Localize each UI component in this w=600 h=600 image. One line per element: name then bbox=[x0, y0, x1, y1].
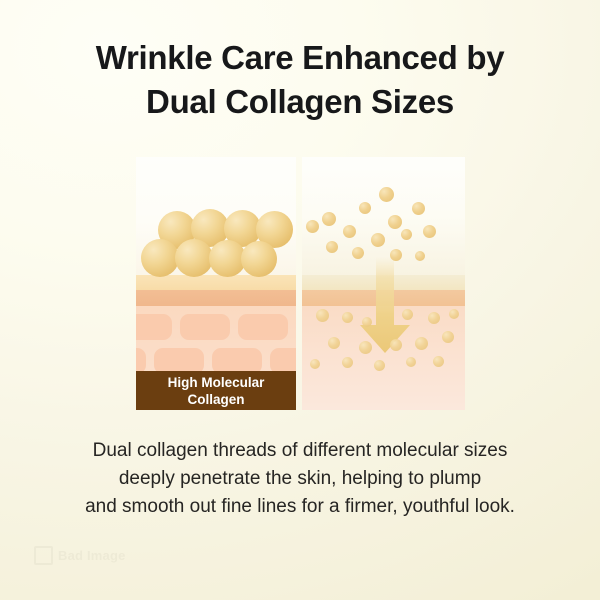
collagen-molecule-small-deep bbox=[428, 312, 440, 324]
collagen-molecule-small bbox=[412, 202, 425, 215]
collagen-comparison-diagram: High Molecular Collagen bbox=[136, 157, 465, 410]
collagen-molecule-small-deep bbox=[374, 360, 385, 371]
collagen-molecule-large bbox=[175, 239, 213, 277]
label-high-molecular: High Molecular Collagen bbox=[136, 371, 296, 410]
left-upper-dermis-layer bbox=[136, 290, 296, 306]
collagen-molecule-small bbox=[388, 215, 402, 229]
collagen-molecule-small-deep bbox=[415, 337, 428, 350]
watermark-logo-icon bbox=[34, 546, 53, 565]
collagen-molecule-small-deep bbox=[342, 357, 353, 368]
title-line-2: Dual Collagen Sizes bbox=[0, 80, 600, 124]
collagen-molecule-small-deep bbox=[449, 309, 459, 319]
collagen-molecule-small bbox=[352, 247, 364, 259]
collagen-molecule-small-deep bbox=[402, 309, 413, 320]
left-epidermis-layer bbox=[136, 275, 296, 290]
description-text: Dual collagen threads of different molec… bbox=[0, 437, 600, 521]
collagen-molecule-small-deep bbox=[433, 356, 444, 367]
collagen-molecule-small-deep bbox=[406, 357, 416, 367]
collagen-molecule-small bbox=[306, 220, 319, 233]
description-line-2: deeply penetrate the skin, helping to pl… bbox=[0, 465, 600, 493]
collagen-molecule-small bbox=[326, 241, 338, 253]
collagen-molecule-small-deep bbox=[390, 339, 402, 351]
collagen-molecule-small bbox=[322, 212, 336, 226]
panel-ultra-low-molecular: Ultra-Low Molecular Collagen bbox=[302, 157, 465, 410]
label-high-molecular-line1: High Molecular bbox=[168, 375, 265, 390]
watermark: Bad Image bbox=[34, 546, 126, 565]
infographic-canvas: Wrinkle Care Enhanced by Dual Collagen S… bbox=[0, 0, 600, 600]
description-line-3: and smooth out fine lines for a firmer, … bbox=[0, 493, 600, 521]
collagen-molecule-small-deep bbox=[316, 309, 329, 322]
collagen-molecule-small bbox=[343, 225, 356, 238]
page-title: Wrinkle Care Enhanced by Dual Collagen S… bbox=[0, 36, 600, 124]
watermark-label: Bad Image bbox=[58, 548, 126, 563]
collagen-molecule-small bbox=[390, 249, 402, 261]
collagen-molecule-small-deep bbox=[359, 341, 372, 354]
label-high-molecular-line2: Collagen bbox=[187, 392, 244, 407]
title-line-1: Wrinkle Care Enhanced by bbox=[0, 36, 600, 80]
collagen-molecule-small-deep bbox=[362, 317, 372, 327]
collagen-molecule-small-deep bbox=[342, 312, 353, 323]
description-line-1: Dual collagen threads of different molec… bbox=[0, 437, 600, 465]
collagen-molecule-small bbox=[379, 187, 394, 202]
collagen-molecule-large bbox=[141, 239, 179, 277]
collagen-molecule-small bbox=[371, 233, 385, 247]
collagen-molecule-small bbox=[359, 202, 371, 214]
collagen-molecule-small-deep bbox=[328, 337, 340, 349]
panel-high-molecular: High Molecular Collagen bbox=[136, 157, 296, 410]
collagen-molecule-small-deep bbox=[442, 331, 454, 343]
collagen-molecule-small bbox=[423, 225, 436, 238]
collagen-molecule-small bbox=[401, 229, 412, 240]
collagen-molecule-large bbox=[241, 241, 277, 277]
collagen-molecule-small bbox=[415, 251, 425, 261]
collagen-molecule-small-deep bbox=[310, 359, 320, 369]
